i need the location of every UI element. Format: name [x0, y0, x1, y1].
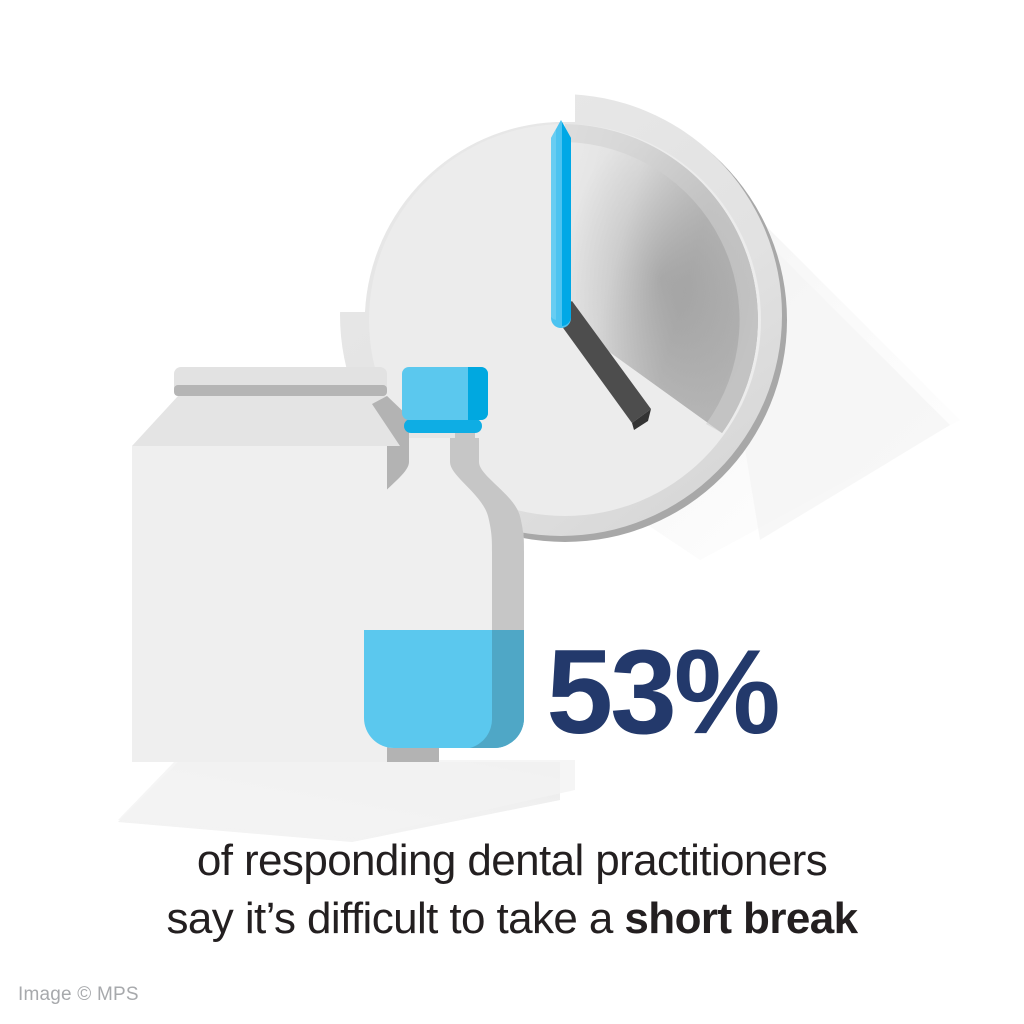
water-fill — [364, 630, 524, 748]
container-cast-shadow — [118, 760, 575, 842]
infographic-root: 53% of responding dental practitioners s… — [0, 0, 1024, 1024]
caption-line-2-emphasis: short break — [624, 894, 857, 943]
caption-block: of responding dental practitioners say i… — [40, 832, 984, 948]
minute-hand — [551, 120, 571, 328]
caption-line-2-prefix: say it’s difficult to take a — [167, 894, 625, 943]
image-credit: Image © MPS — [18, 984, 139, 1006]
caption-line-2: say it’s difficult to take a short break — [40, 890, 984, 948]
caption-line-1: of responding dental practitioners — [40, 832, 984, 890]
